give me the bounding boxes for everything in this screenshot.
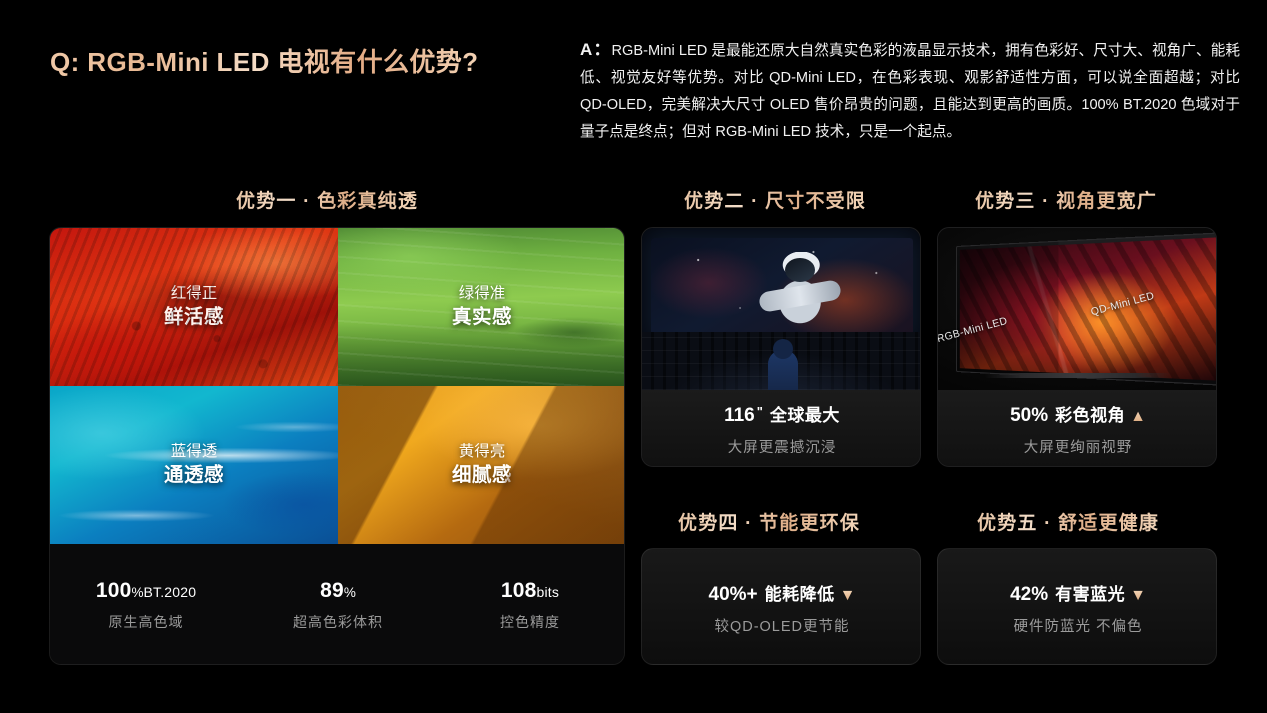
color-quadrant-grid: 红得正 鲜活感 绿得准 真实感 蓝得透 通透感 黄得亮 细腻感: [50, 228, 625, 544]
advantage-card-size: 116"全球最大 大屏更震撼沉浸: [641, 227, 921, 467]
color-showcase-card: 红得正 鲜活感 绿得准 真实感 蓝得透 通透感 黄得亮 细腻感 100%BT.2…: [49, 227, 625, 665]
cinema-image: [642, 228, 921, 390]
stat-item: 89% 超高色彩体积: [242, 579, 434, 632]
stat-value-group: 100%BT.2020: [50, 579, 242, 603]
card-value: 40%+: [709, 584, 758, 606]
card-subtext: 大屏更绚丽视野: [1024, 436, 1133, 457]
tv-panel-dim-half: [957, 242, 1059, 376]
stat-value: 89: [320, 579, 344, 602]
card-value-sup: ": [757, 404, 763, 419]
card-subtext: 硬件防蓝光 不偏色: [1013, 615, 1142, 636]
card-headline: 50%彩色视角▲: [1010, 401, 1146, 427]
quadrant-green-line1: 绿得准: [338, 283, 625, 304]
quadrant-red: 红得正 鲜活感: [50, 228, 338, 386]
stat-unit-secondary: BT.2020: [143, 584, 196, 600]
stat-desc: 原生高色域: [50, 612, 242, 632]
advantage-card-viewangle: RGB-Mini LED QD-Mini LED 50%彩色视角▲ 大屏更绚丽视…: [937, 227, 1217, 467]
header: Q: RGB-Mini LED 电视有什么优势? A：RGB-Mini LED …: [0, 0, 1267, 160]
card-caption: 40%+能耗降低▼ 较QD-OLED更节能: [642, 549, 921, 665]
card-title: 有害蓝光: [1055, 580, 1125, 605]
advantage-card-power: 40%+能耗降低▼ 较QD-OLED更节能: [641, 548, 921, 665]
answer-label: A：: [580, 40, 611, 59]
stat-unit-secondary: bits: [536, 584, 559, 600]
quadrant-gold-line2: 细腻感: [338, 462, 625, 489]
tv-scene: RGB-Mini LED QD-Mini LED: [938, 228, 1217, 390]
card-caption: 42%有害蓝光▼ 硬件防蓝光 不偏色: [938, 549, 1217, 665]
answer-paragraph: A：RGB-Mini LED 是最能还原大自然真实色彩的液晶显示技术，拥有色彩好…: [580, 36, 1240, 146]
section-heading-1: 优势一 · 色彩真纯透: [236, 186, 418, 213]
quadrant-blue-label: 蓝得透 通透感: [50, 441, 338, 489]
advantage-card-health: 42%有害蓝光▼ 硬件防蓝光 不偏色: [937, 548, 1217, 665]
card-headline: 42%有害蓝光▼: [1010, 580, 1146, 606]
card-subtext: 大屏更震撼沉浸: [728, 436, 837, 457]
quadrant-blue-line2: 通透感: [50, 462, 338, 489]
arrow-down-icon: ▼: [1130, 588, 1146, 604]
tv-angle-image: RGB-Mini LED QD-Mini LED: [938, 228, 1217, 390]
stat-desc: 超高色彩体积: [242, 612, 434, 632]
card-headline: 116"全球最大: [724, 401, 840, 427]
quadrant-gold-label: 黄得亮 细腻感: [338, 441, 625, 489]
stat-unit: %: [344, 585, 356, 600]
stat-item: 108bits 控色精度: [434, 579, 625, 632]
quadrant-gold: 黄得亮 细腻感: [338, 386, 625, 544]
question-title: Q: RGB-Mini LED 电视有什么优势?: [50, 42, 478, 79]
stat-item: 100%BT.2020 原生高色域: [50, 579, 242, 632]
section-heading-4: 优势四 · 节能更环保: [678, 508, 860, 535]
quadrant-green-label: 绿得准 真实感: [338, 283, 625, 331]
astronaut-figure: [769, 252, 831, 338]
quadrant-red-line1: 红得正: [50, 283, 338, 304]
arrow-up-icon: ▲: [1130, 409, 1146, 425]
card-value: 42%: [1010, 584, 1048, 606]
quadrant-blue: 蓝得透 通透感: [50, 386, 338, 544]
cinema-screen: [651, 238, 913, 338]
cinema-scene: [642, 228, 921, 390]
section-heading-5: 优势五 · 舒适更健康: [977, 508, 1159, 535]
stat-desc: 控色精度: [434, 612, 625, 632]
stats-row: 100%BT.2020 原生高色域 89% 超高色彩体积 108bits 控色精…: [50, 544, 625, 665]
arrow-down-icon: ▼: [840, 588, 856, 604]
stat-value: 100: [96, 579, 132, 602]
card-title: 能耗降低: [765, 580, 835, 605]
card-value: 116: [724, 405, 755, 427]
card-headline: 40%+能耗降低▼: [709, 580, 856, 606]
tv-stand: [984, 373, 1172, 378]
card-caption: 116"全球最大 大屏更震撼沉浸: [642, 390, 921, 467]
quadrant-red-line2: 鲜活感: [50, 304, 338, 331]
card-caption: 50%彩色视角▲ 大屏更绚丽视野: [938, 390, 1217, 467]
quadrant-green: 绿得准 真实感: [338, 228, 625, 386]
stat-value-group: 108bits: [434, 579, 625, 603]
card-title: 彩色视角: [1055, 401, 1125, 426]
quadrant-red-label: 红得正 鲜活感: [50, 283, 338, 331]
section-heading-2: 优势二 · 尺寸不受限: [684, 186, 866, 213]
tv-body: [956, 232, 1217, 387]
stat-value: 108: [501, 579, 537, 602]
answer-body: RGB-Mini LED 是最能还原大自然真实色彩的液晶显示技术，拥有色彩好、尺…: [580, 43, 1240, 140]
stat-unit: %: [131, 585, 143, 600]
quadrant-blue-line1: 蓝得透: [50, 441, 338, 462]
quadrant-green-line2: 真实感: [338, 304, 625, 331]
viewer-silhouette: [768, 350, 798, 390]
stat-value-group: 89%: [242, 579, 434, 603]
section-heading-3: 优势三 · 视角更宽广: [975, 186, 1157, 213]
card-title: 全球最大: [770, 401, 840, 426]
card-value: 50%: [1010, 405, 1048, 427]
card-subtext: 较QD-OLED更节能: [714, 615, 849, 636]
quadrant-gold-line1: 黄得亮: [338, 441, 625, 462]
